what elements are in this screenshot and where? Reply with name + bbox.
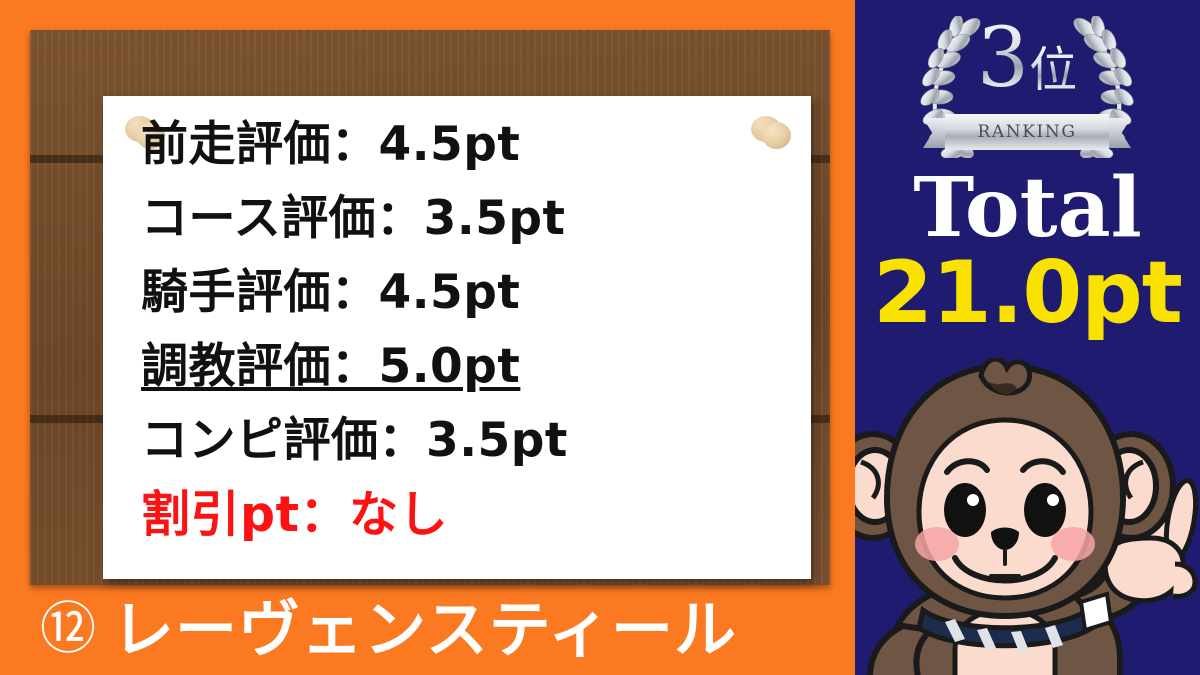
rank-number: 3 [977,11,1029,106]
rank-suffix: 位 [1029,42,1077,98]
horse-number: ⑫ [40,602,96,658]
rating-list: 前走評価：4.5pt コース評価：3.5pt 騎手評価：4.5pt 調教評価：5… [141,108,781,552]
rank-panel: 3位 RANKING Total 21.0pt [855,0,1200,675]
ranking-ribbon: RANKING [923,114,1131,150]
total-score-block: Total 21.0pt [855,168,1200,339]
rating-row: コース評価：3.5pt [141,182,781,256]
rating-row: コンピ評価：3.5pt [141,404,781,478]
rating-row: 調教評価：5.0pt [141,330,781,404]
ranking-label: RANKING [977,122,1076,142]
total-value: 21.0pt [855,248,1200,338]
rating-row: 騎手評価：4.5pt [141,256,781,330]
monkey-mascot [855,358,1200,675]
poster-root: 3位 RANKING Total 21.0pt [0,0,1200,675]
wooden-board: 前走評価：4.5pt コース評価：3.5pt 騎手評価：4.5pt 調教評価：5… [30,30,830,585]
rank-emblem: 3位 RANKING [917,14,1137,164]
rating-card: 前走評価：4.5pt コース評価：3.5pt 騎手評価：4.5pt 調教評価：5… [103,96,811,579]
horse-name: レーヴェンスティール [112,599,737,661]
rank-position: 3位 [917,18,1137,100]
rating-row-discount: 割引pt：なし [141,478,781,552]
horse-name-bar: ⑫ レーヴェンスティール [0,585,855,675]
ribbon-band: RANKING [945,114,1109,150]
rating-row: 前走評価：4.5pt [141,108,781,182]
total-label: Total [855,168,1200,248]
